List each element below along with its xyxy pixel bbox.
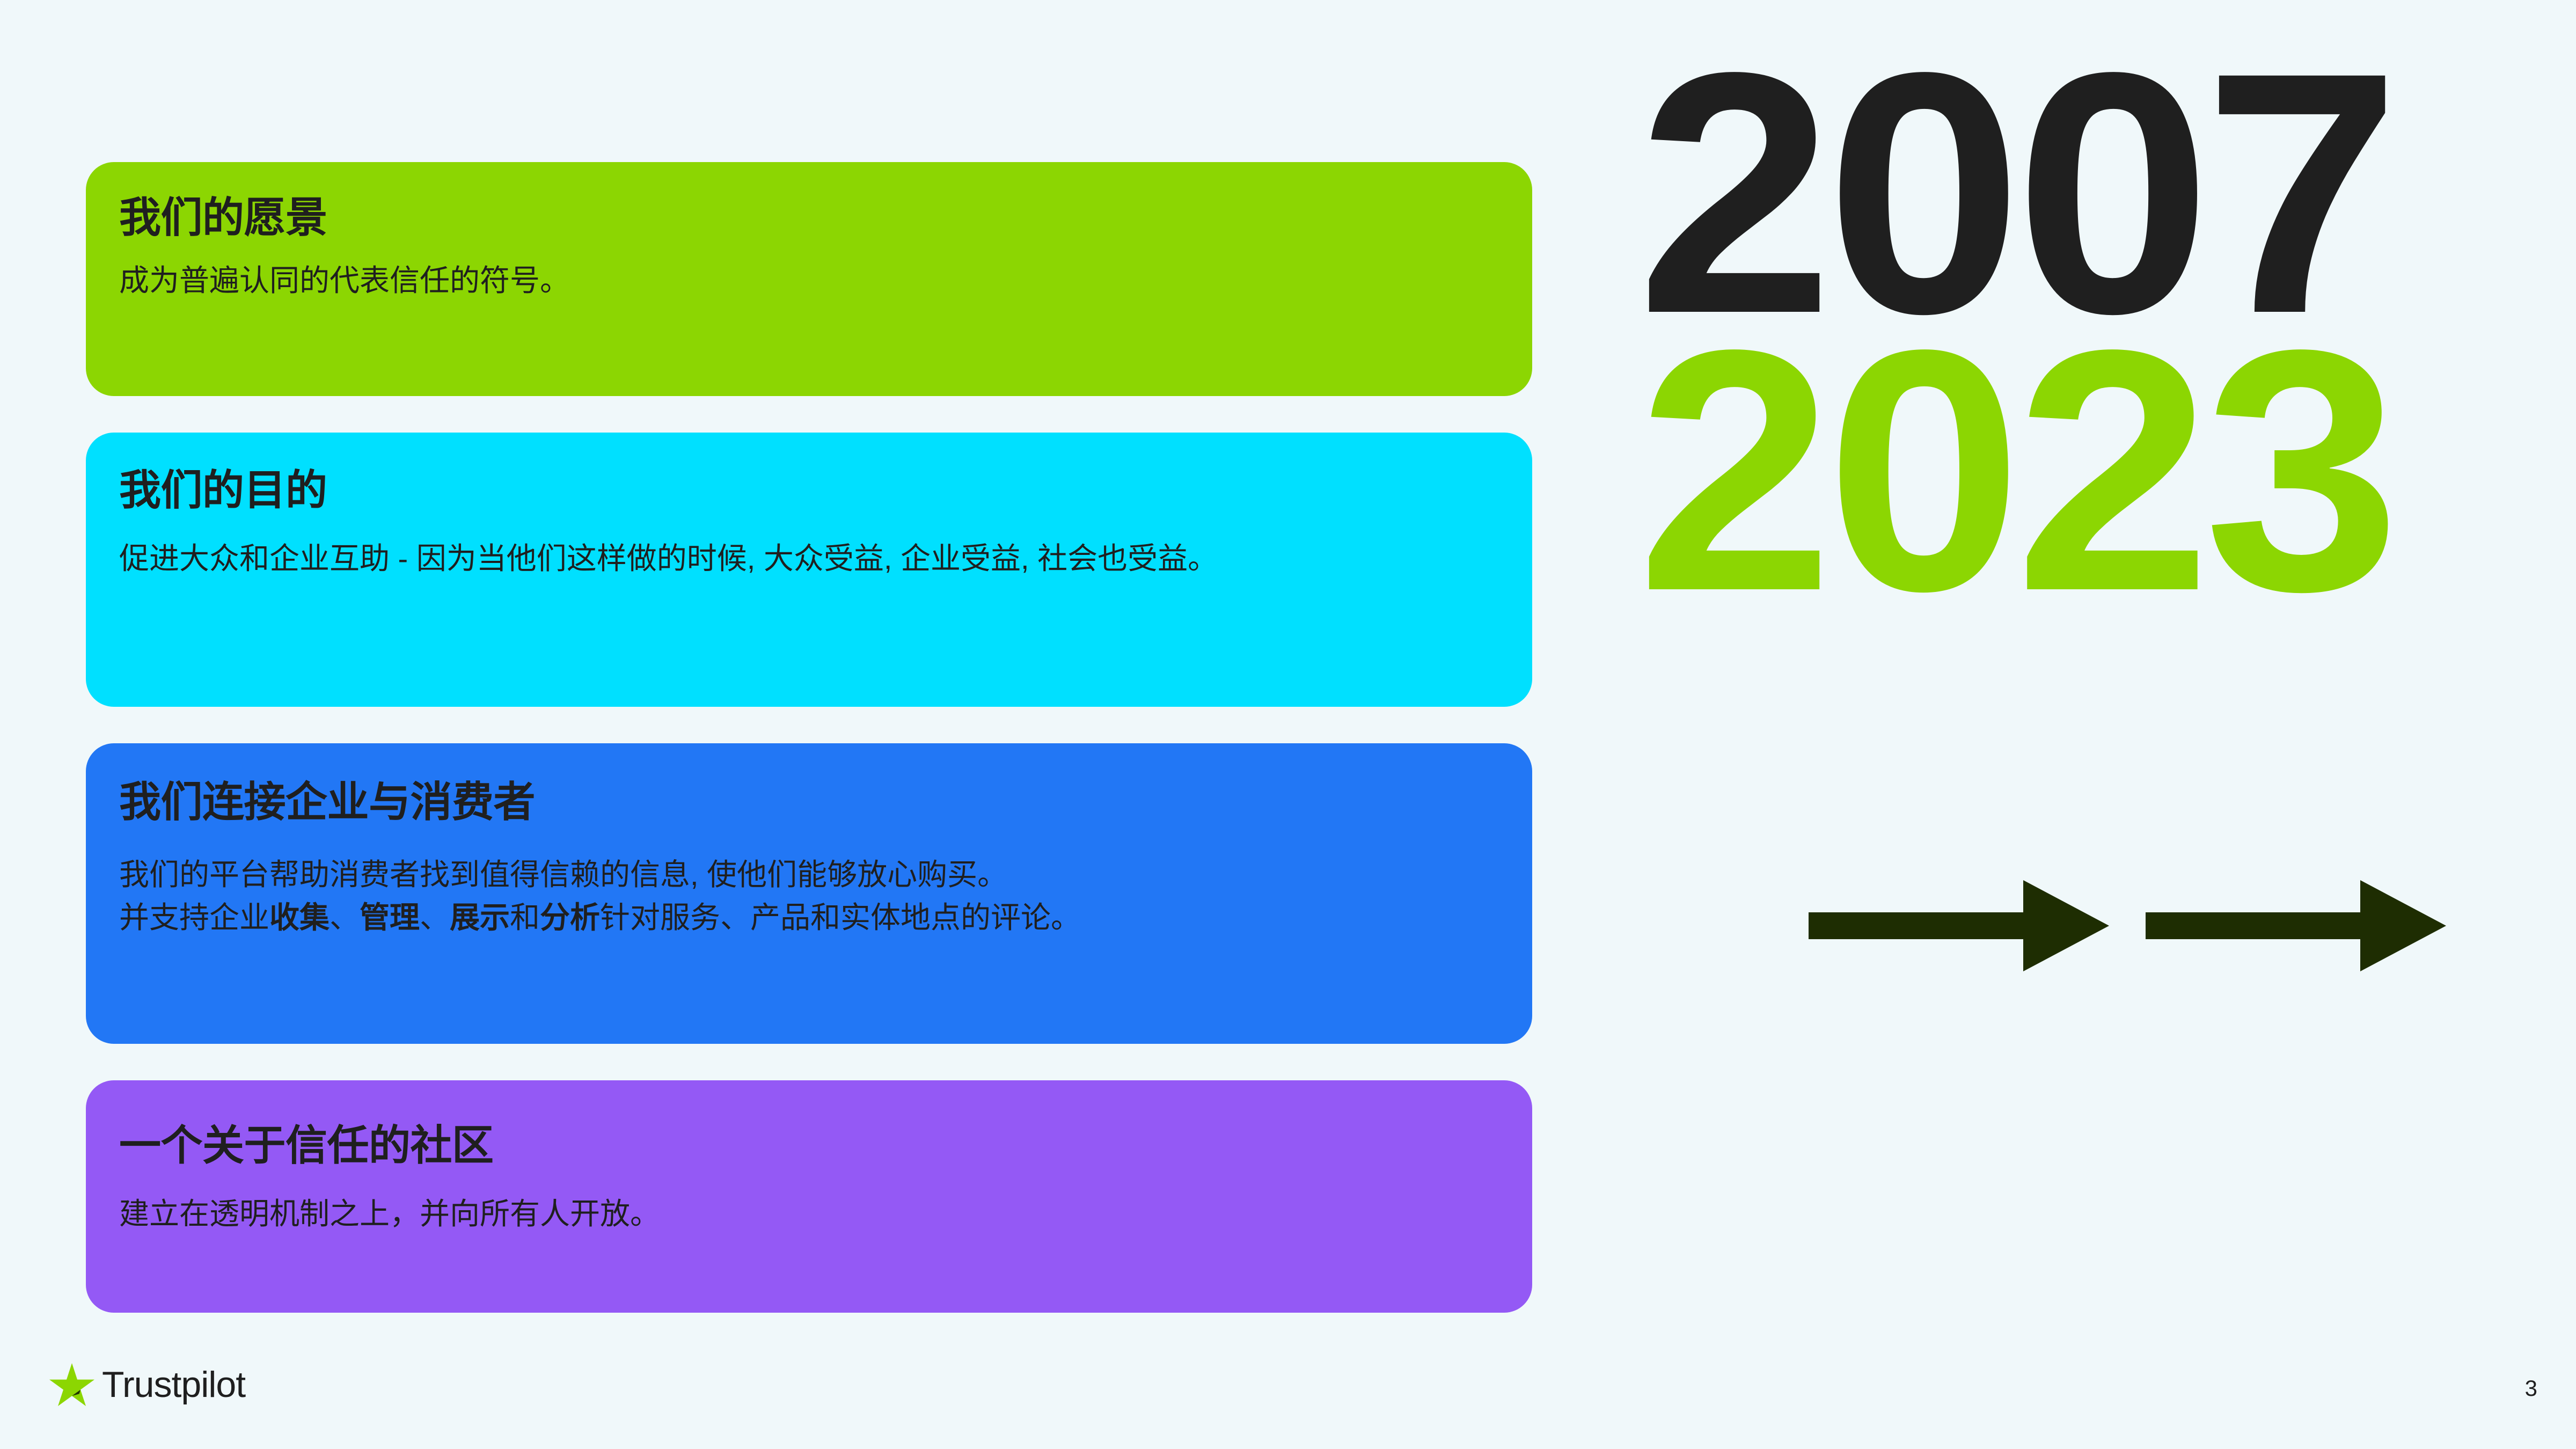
connect-keyword-collect: 收集 [269,901,330,934]
card-vision-title: 我们的愿景 [119,194,1499,241]
arrow-right-icon [2146,880,2446,971]
card-vision-body: 成为普遍认同的代表信任的符号。 [119,259,1499,302]
card-community-body: 建立在透明机制之上，并向所有人开放。 [119,1192,1499,1235]
page-number: 3 [2525,1377,2537,1400]
card-connect-title: 我们连接企业与消费者 [119,779,1499,825]
trustpilot-star-icon [49,1363,94,1406]
connect-keyword-analyze: 分析 [540,901,600,934]
trustpilot-wordmark: Trustpilot [102,1366,245,1403]
card-connect: 我们连接企业与消费者 我们的平台帮助消费者找到值得信赖的信息, 使他们能够放心购… [86,743,1532,1044]
connect-text-prefix: 并支持企业 [119,901,269,934]
card-community-title: 一个关于信任的社区 [119,1122,1499,1169]
connect-sep-1: 、 [330,901,360,934]
connect-keyword-display: 展示 [450,901,510,934]
card-connect-body-line-2: 并支持企业收集、管理、展示和分析针对服务、产品和实体地点的评论。 [119,896,1499,939]
card-purpose-title: 我们的目的 [119,467,1499,514]
year-end-label: 2023 [1637,336,2576,604]
card-vision: 我们的愿景 成为普遍认同的代表信任的符号。 [86,162,1532,396]
trustpilot-logo: Trustpilot [49,1363,245,1406]
statement-card-list: 我们的愿景 成为普遍认同的代表信任的符号。 我们的目的 促进大众和企业互助 - … [86,162,1532,1313]
card-connect-body: 我们的平台帮助消费者找到值得信赖的信息, 使他们能够放心购买。 并支持企业收集、… [119,853,1499,939]
arrow-right-icon [1809,880,2109,971]
connect-sep-2: 、 [420,901,450,934]
connect-keyword-manage: 管理 [360,901,420,934]
timeline-arrow-group [1809,880,2446,971]
connect-text-and: 和 [510,901,540,934]
card-connect-body-line-1: 我们的平台帮助消费者找到值得信赖的信息, 使他们能够放心购买。 [119,853,1499,896]
card-purpose-body: 促进大众和企业互助 - 因为当他们这样做的时候, 大众受益, 企业受益, 社会也… [119,537,1499,580]
card-community: 一个关于信任的社区 建立在透明机制之上，并向所有人开放。 [86,1080,1532,1313]
slide-canvas: 我们的愿景 成为普遍认同的代表信任的符号。 我们的目的 促进大众和企业互助 - … [0,0,2576,1449]
timeline-years: 2007 2023 [1637,59,2576,604]
connect-text-suffix: 针对服务、产品和实体地点的评论。 [600,901,1081,934]
card-purpose: 我们的目的 促进大众和企业互助 - 因为当他们这样做的时候, 大众受益, 企业受… [86,433,1532,707]
